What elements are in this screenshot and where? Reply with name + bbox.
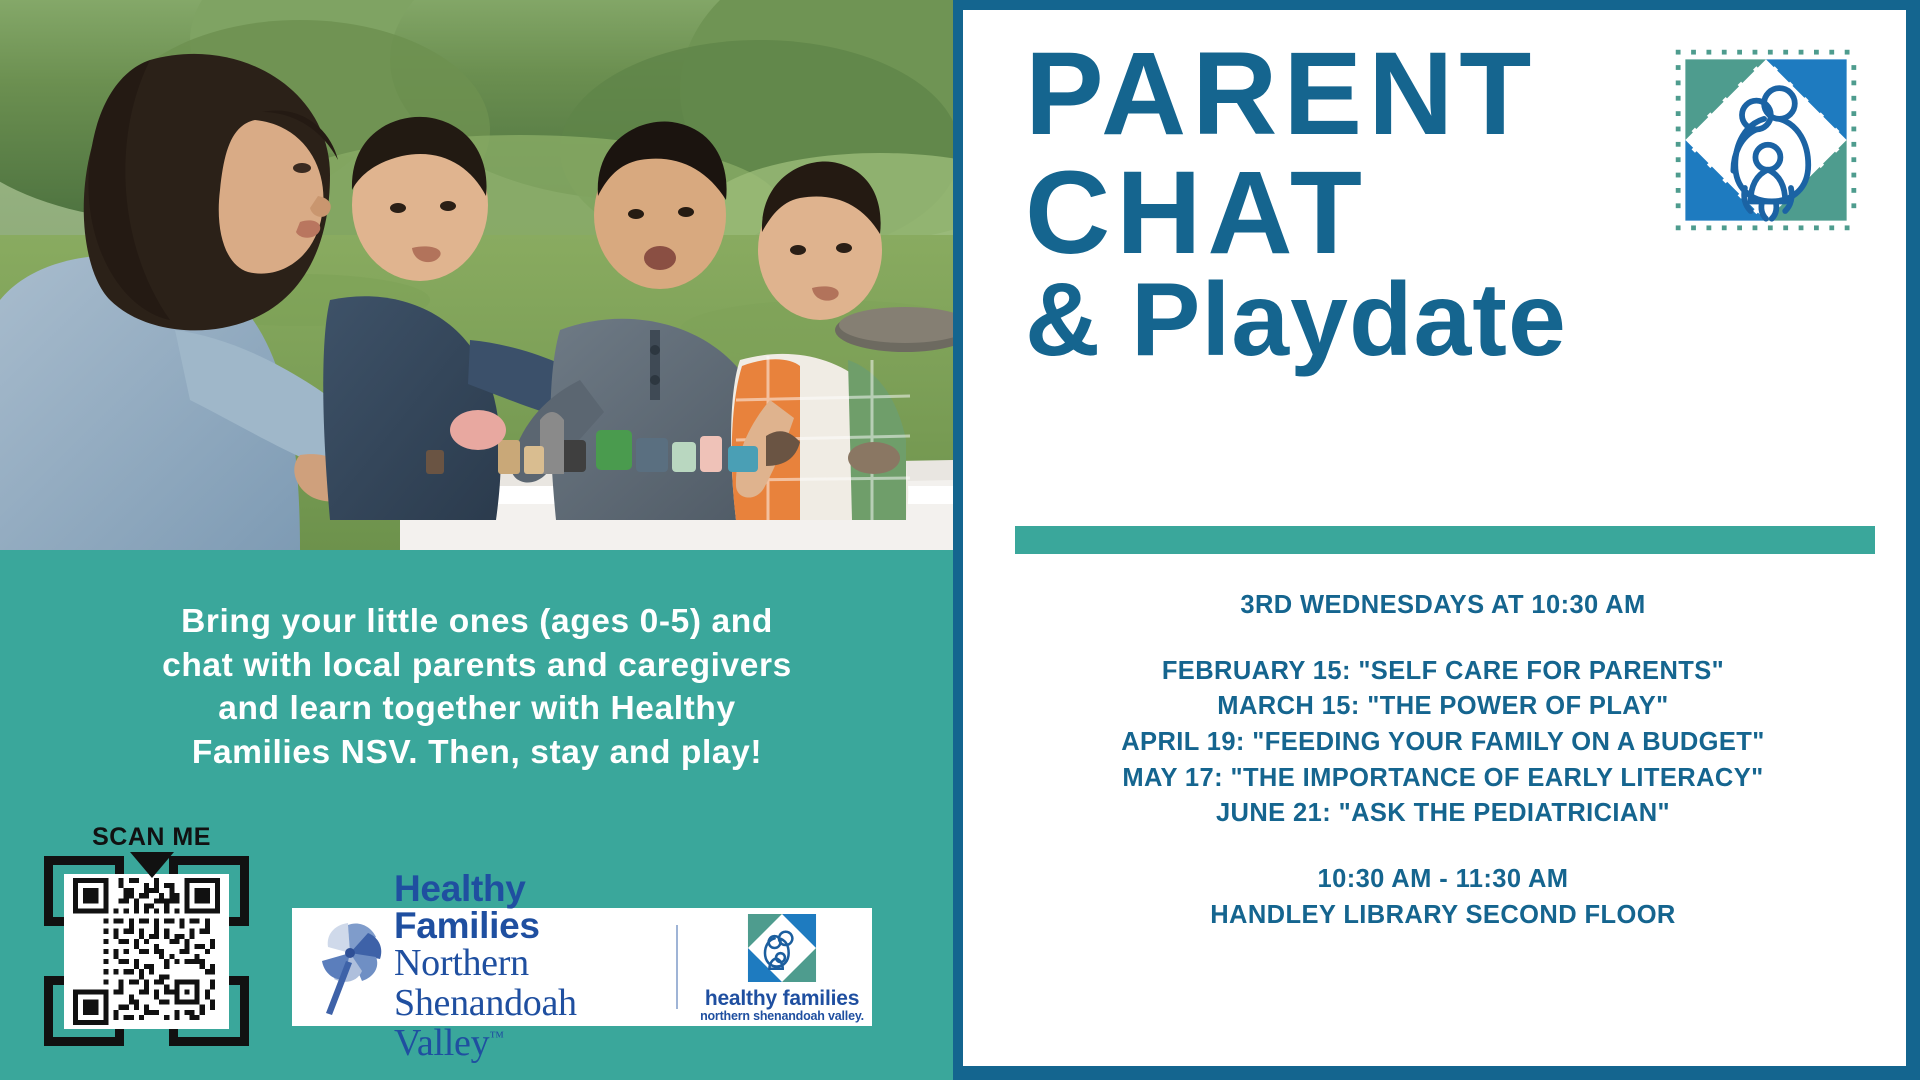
description-line-2: chat with local parents and caregivers xyxy=(34,644,920,688)
title-line-2: CHAT xyxy=(1025,159,1785,268)
logo-divider xyxy=(676,925,678,1009)
scan-me-label: SCAN ME xyxy=(44,825,259,850)
session-item: JUNE 21: "ASK THE PEDIATRICIAN" xyxy=(1003,796,1883,832)
event-details: 3RD WEDNESDAYS AT 10:30 AM FEBRUARY 15: … xyxy=(1003,588,1883,934)
family-diamond-badge-icon xyxy=(745,911,819,985)
partner-logo-bar: Healthy Families Northern Shenandoah Val… xyxy=(292,908,872,1026)
spacer-2 xyxy=(1003,832,1883,862)
teal-divider-rule xyxy=(1015,526,1875,554)
description-text: Bring your little ones (ages 0-5) and ch… xyxy=(34,600,920,774)
partner-badge-line1: healthy families xyxy=(692,988,872,1009)
partner-badge-line2: northern shenandoah valley. xyxy=(692,1009,872,1024)
session-item: MARCH 15: "THE POWER OF PLAY" xyxy=(1003,689,1883,725)
partner-logo-line1: Healthy Families xyxy=(394,870,662,944)
trademark-symbol: ™ xyxy=(489,1029,503,1045)
session-item: APRIL 19: "FEEDING YOUR FAMILY ON A BUDG… xyxy=(1003,725,1883,761)
pinwheel-icon xyxy=(306,917,392,1017)
page-title: PARENT CHAT & Playdate xyxy=(1025,40,1785,369)
qr-scan-block[interactable]: SCAN ME xyxy=(44,825,259,1046)
partner-logo-badge: healthy families northern shenandoah val… xyxy=(692,911,872,1024)
description-line-4: Families NSV. Then, stay and play! xyxy=(34,731,920,775)
partner-logo-wordmark: Healthy Families Northern Shenandoah Val… xyxy=(392,870,662,1064)
family-playing-photo xyxy=(0,0,953,550)
session-item: MAY 17: "THE IMPORTANCE OF EARLY LITERAC… xyxy=(1003,761,1883,797)
title-line-3: & Playdate xyxy=(1025,273,1785,369)
session-item: FEBRUARY 15: "SELF CARE FOR PARENTS" xyxy=(1003,654,1883,690)
title-line-1: PARENT xyxy=(1025,40,1785,149)
right-panel: PARENT CHAT & Playdate 3RD WEDNESDAYS AT… xyxy=(953,0,1920,1080)
recurrence-text: 3RD WEDNESDAYS AT 10:30 AM xyxy=(1003,588,1883,624)
time-range-text: 10:30 AM - 11:30 AM xyxy=(1003,862,1883,898)
right-card: PARENT CHAT & Playdate 3RD WEDNESDAYS AT… xyxy=(963,10,1906,1066)
qr-frame xyxy=(44,856,249,1046)
down-triangle-icon xyxy=(130,852,174,878)
description-line-3: and learn together with Healthy xyxy=(34,687,920,731)
description-line-1: Bring your little ones (ages 0-5) and xyxy=(34,600,920,644)
spacer-1 xyxy=(1003,624,1883,654)
location-text: HANDLEY LIBRARY SECOND FLOOR xyxy=(1003,898,1883,934)
qr-code-icon[interactable] xyxy=(64,874,229,1029)
left-panel: Bring your little ones (ages 0-5) and ch… xyxy=(0,0,953,1080)
partner-logo-line2: Northern Shenandoah Valley™ xyxy=(394,944,662,1064)
parent-chat-playdate-flyer: Bring your little ones (ages 0-5) and ch… xyxy=(0,0,1920,1080)
